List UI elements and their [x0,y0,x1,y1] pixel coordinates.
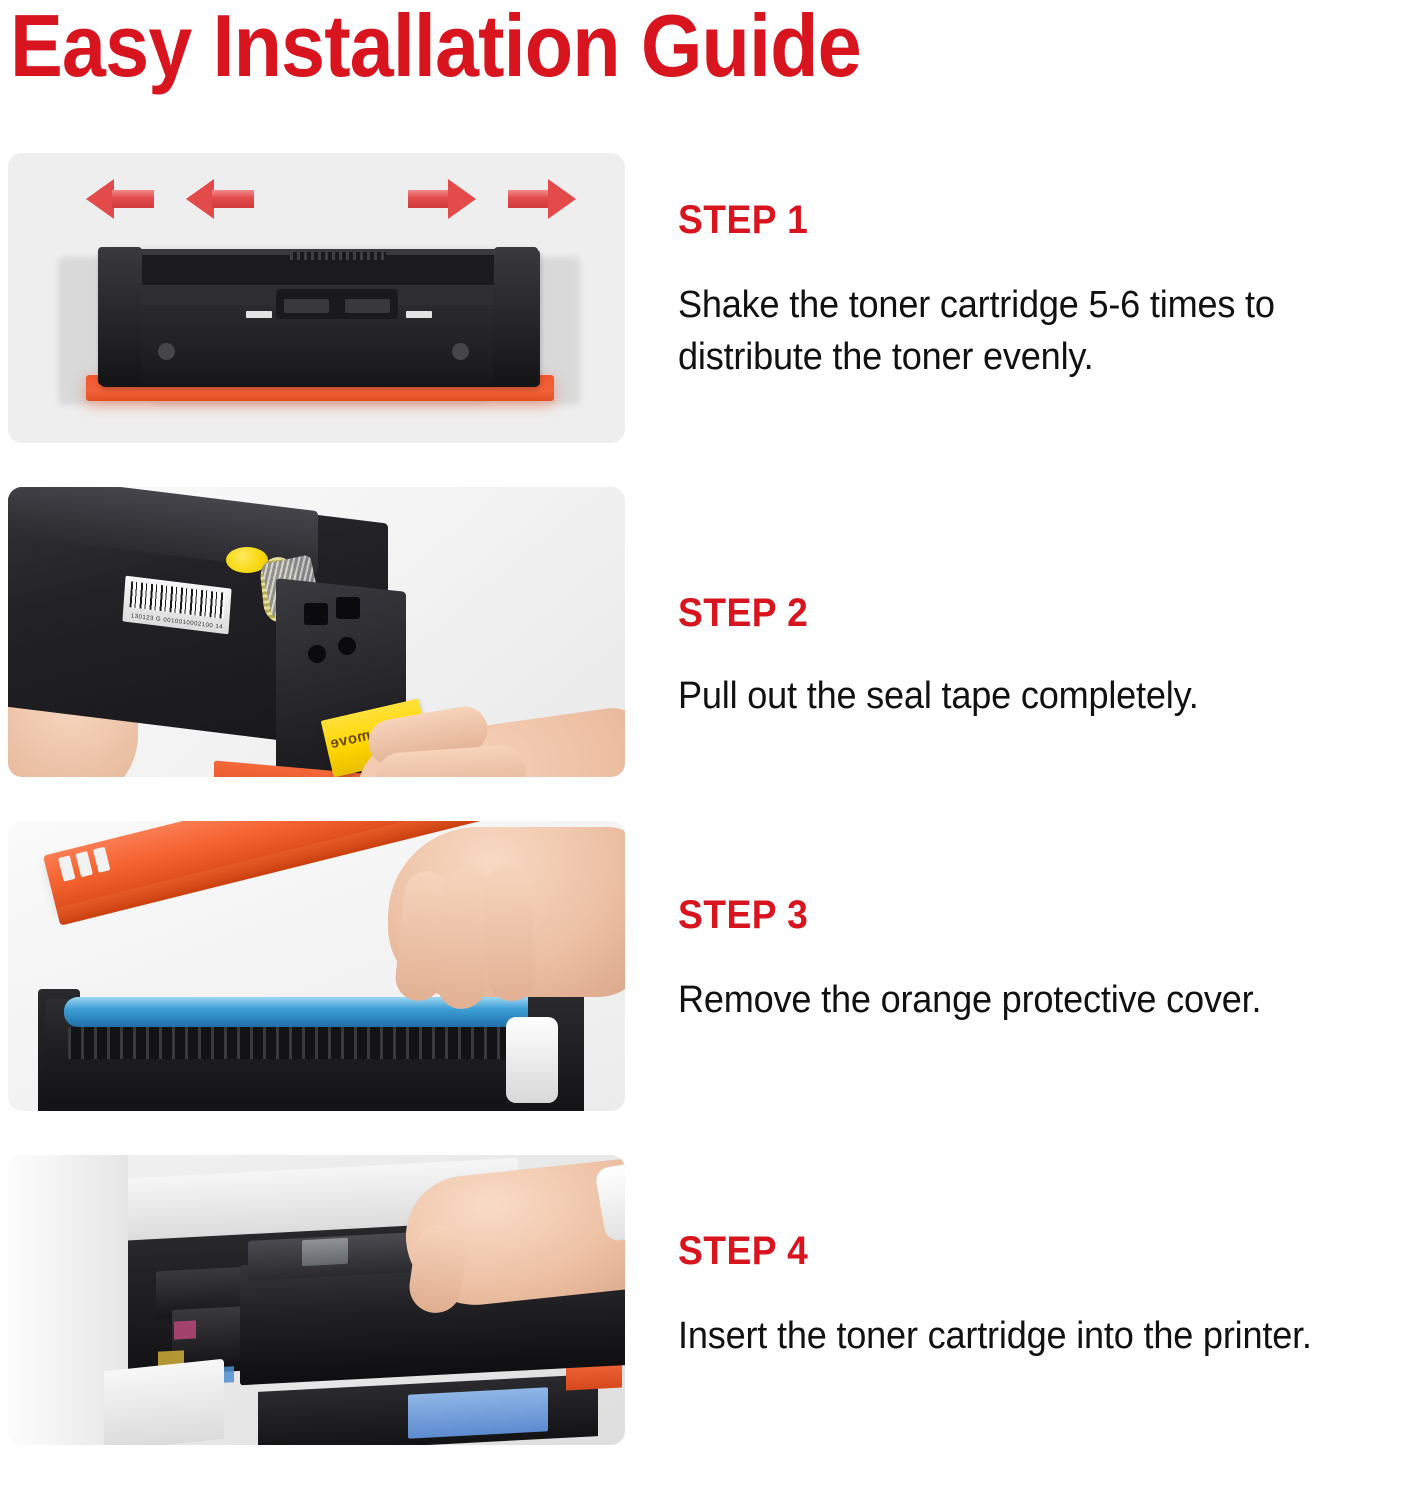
white-gear-cap [506,1017,558,1103]
step1-image-panel [8,153,625,443]
step3-image-panel [8,821,625,1111]
step-label: STEP 1 [678,199,1357,241]
cartridge-port [338,637,356,655]
cartridge-center-grip [276,289,398,319]
step1-text-block: STEP 1 Shake the toner cartridge 5-6 tim… [625,153,1412,383]
step2-image-panel: 130123 G 0010010002100 14 Remove [8,487,625,777]
cartridge-knob [158,343,175,360]
arrow-left-icon [86,179,154,219]
step-row: 130123 G 0010010002100 14 Remove STEP 2 … [0,487,1412,777]
step4-text-block: STEP 4 Insert the toner cartridge into t… [625,1155,1412,1362]
step-description: Insert the toner cartridge into the prin… [678,1310,1372,1362]
magenta-cartridge-marker [174,1320,196,1339]
shake-arrows-group [8,171,625,227]
step2-text-block: STEP 2 Pull out the seal tape completely… [625,487,1412,722]
cartridge-port [308,645,326,663]
cartridge-end-cap-right [494,247,538,385]
arrow-right-icon [508,179,576,219]
step-description: Pull out the seal tape completely. [678,670,1372,722]
step-label: STEP 2 [678,592,1357,634]
photoconductor-drum [64,997,554,1027]
step-row: STEP 1 Shake the toner cartridge 5-6 tim… [0,153,1412,443]
cartridge-port [336,597,360,619]
cartridge-marking [246,311,272,318]
cover-notch [75,851,92,877]
cyan-cartridge-handle [408,1387,548,1438]
cartridge-body [100,249,540,387]
cartridge-vents [290,252,386,260]
page-title: Easy Installation Guide [10,0,1072,98]
toner-cartridge-graphic [70,247,570,417]
cover-notch [93,847,110,873]
step-label: STEP 3 [678,894,1357,936]
cartridge-port [304,603,328,625]
cartridge-knob [452,343,469,360]
arrow-right-icon [408,179,476,219]
step4-image-panel [8,1155,625,1445]
cartridge-marking [406,311,432,318]
cartridge-vents [68,1027,538,1059]
step-row: STEP 4 Insert the toner cartridge into t… [0,1155,1412,1445]
step-description: Remove the orange protective cover. [678,974,1372,1026]
step-label: STEP 4 [678,1230,1357,1272]
cover-notch [58,855,75,881]
arrow-left-icon [186,179,254,219]
cartridge-end-cap-left [98,247,142,385]
printer-front-door [104,1359,224,1445]
step-description: Shake the toner cartridge 5-6 times to d… [678,279,1372,383]
step-row: STEP 3 Remove the orange protective cove… [0,821,1412,1111]
finger [484,864,537,1002]
barcode [129,581,225,618]
cartridge-grey-tab [302,1238,348,1266]
step3-text-block: STEP 3 Remove the orange protective cove… [625,821,1412,1026]
finger [436,866,491,1010]
steps-container: STEP 1 Shake the toner cartridge 5-6 tim… [0,153,1412,1489]
